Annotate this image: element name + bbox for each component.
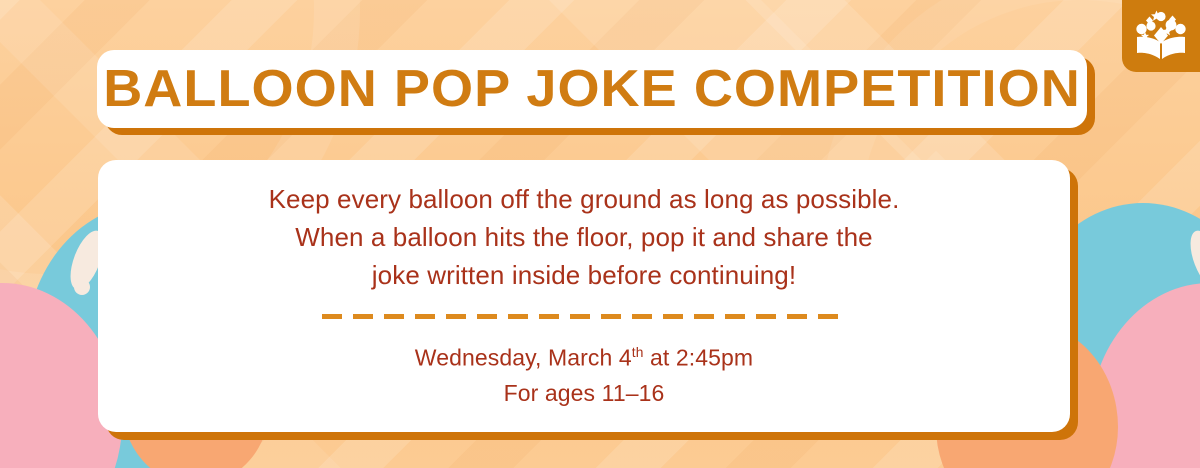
description-line-1: Keep every balloon off the ground as lon… bbox=[269, 180, 900, 218]
poster-root: Balloon Pop Joke Competition Keep every … bbox=[0, 0, 1200, 468]
description-line-3: joke written inside before continuing! bbox=[269, 256, 900, 294]
event-date-prefix: Wednesday, March 4 bbox=[415, 345, 632, 371]
description-line-2: When a balloon hits the floor, pop it an… bbox=[269, 218, 900, 256]
library-book-stars-logo-icon bbox=[1132, 9, 1190, 63]
event-details-block: Wednesday, March 4th at 2:45pm For ages … bbox=[415, 335, 753, 411]
dashed-divider bbox=[322, 314, 847, 319]
page-title: Balloon Pop Joke Competition bbox=[103, 59, 1081, 119]
library-logo-badge bbox=[1122, 0, 1200, 72]
event-age-range: For ages 11–16 bbox=[415, 376, 753, 411]
event-time-suffix: at 2:45pm bbox=[644, 345, 754, 371]
event-date-time: Wednesday, March 4th at 2:45pm bbox=[415, 335, 753, 376]
description-block: Keep every balloon off the ground as lon… bbox=[269, 180, 900, 294]
content-card: Keep every balloon off the ground as lon… bbox=[98, 160, 1070, 432]
title-card: Balloon Pop Joke Competition bbox=[97, 50, 1087, 128]
event-date-ordinal: th bbox=[632, 345, 644, 360]
